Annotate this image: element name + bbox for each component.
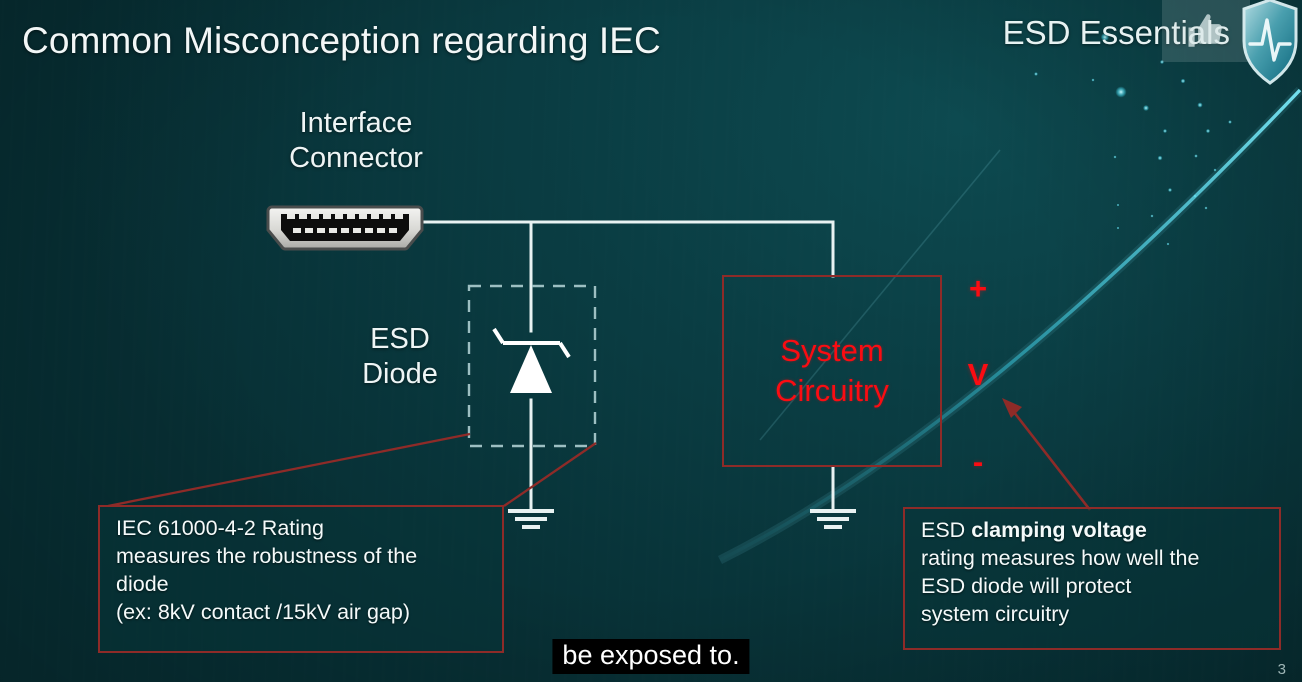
callout-clamping-voltage: ESD clamping voltage rating measures how… [903, 507, 1281, 650]
callout-right-line1: ESD clamping voltage [921, 517, 1265, 545]
callout-left-line1: IEC 61000-4-2 Rating [116, 515, 488, 543]
slide-canvas: Common Misconception regarding IEC ESD E… [0, 0, 1302, 682]
callout-right-bold: clamping voltage [971, 518, 1147, 542]
callout-left-line4: (ex: 8kV contact /15kV air gap) [116, 599, 488, 627]
callout-right-line3: ESD diode will protect [921, 573, 1265, 601]
polarity-minus-marker: - [963, 444, 993, 480]
esd-label-line2: Diode [330, 357, 470, 392]
subtitle-caption: be exposed to. [552, 639, 749, 674]
callout-arrow-right [1002, 398, 1090, 510]
callout-right-line4: system circuitry [921, 601, 1265, 629]
page-number: 3 [1278, 661, 1286, 678]
callout-right-lead: ESD [921, 518, 971, 542]
interface-label-line1: Interface [246, 106, 466, 141]
system-circuitry-line1: System [780, 331, 883, 371]
esd-diode-label: ESD Diode [330, 322, 470, 393]
interface-connector-label: Interface Connector [246, 106, 466, 177]
esd-label-line1: ESD [330, 322, 470, 357]
system-circuitry-line2: Circuitry [775, 371, 889, 411]
callout-right-line2: rating measures how well the [921, 545, 1265, 573]
voltage-v-marker: V [963, 357, 993, 393]
ground-symbol-system [810, 511, 856, 527]
system-circuitry-box: System Circuitry [722, 275, 942, 467]
callout-iec-rating: IEC 61000-4-2 Rating measures the robust… [98, 505, 504, 653]
polarity-plus-marker: + [963, 271, 993, 307]
esd-zener-diode-symbol [494, 329, 569, 393]
callout-left-line2: measures the robustness of the [116, 543, 488, 571]
interface-label-line2: Connector [246, 141, 466, 176]
ground-symbol-diode [508, 511, 554, 527]
callout-left-line3: diode [116, 571, 488, 599]
hdmi-connector-icon [266, 204, 424, 252]
